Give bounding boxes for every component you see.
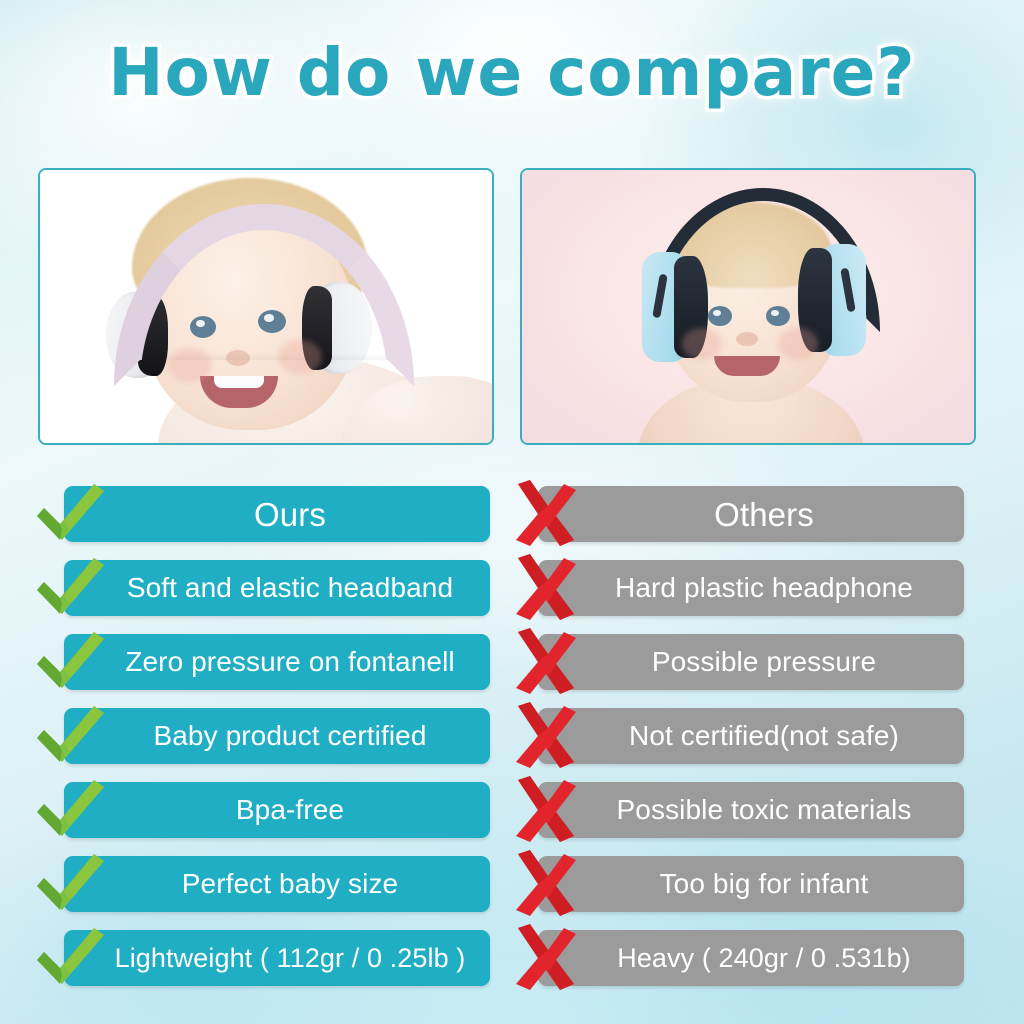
cell-label-ours: Zero pressure on fontanell <box>125 648 454 676</box>
cell-label-ours: Lightweight ( 112gr / 0 .25lb ) <box>115 945 466 972</box>
cell-ours: Lightweight ( 112gr / 0 .25lb ) <box>64 930 490 986</box>
cross-icon <box>508 552 582 624</box>
cell-ours: Bpa-free <box>64 782 490 838</box>
header-cell-others: Others <box>538 486 964 542</box>
header-label-ours: Ours <box>254 498 326 531</box>
cell-others: Heavy ( 240gr / 0 .531b) <box>538 930 964 986</box>
check-icon <box>34 478 108 550</box>
check-icon <box>34 626 108 698</box>
cell-label-others: Possible pressure <box>652 648 876 676</box>
cell-label-others: Hard plastic headphone <box>615 574 913 602</box>
header-cell-ours: Ours <box>64 486 490 542</box>
cell-label-ours: Baby product certified <box>153 722 426 750</box>
cell-others: Not certified(not safe) <box>538 708 964 764</box>
cell-label-ours: Soft and elastic headband <box>127 574 453 602</box>
baby-mouth <box>714 356 780 376</box>
table-row-header: Ours Others <box>0 486 1024 560</box>
cell-others: Possible toxic materials <box>538 782 964 838</box>
photo-ours-image <box>40 170 492 443</box>
table-row: Soft and elastic headband Hard plastic h… <box>0 560 1024 634</box>
cross-icon <box>508 626 582 698</box>
cross-icon <box>508 922 582 994</box>
check-icon <box>34 774 108 846</box>
baby-cheek-right <box>278 340 322 374</box>
baby-eye-right <box>766 306 790 326</box>
cell-label-ours: Bpa-free <box>236 796 344 824</box>
check-icon <box>34 848 108 920</box>
cell-label-others: Not certified(not safe) <box>629 722 899 750</box>
photo-ours <box>38 168 494 445</box>
cell-ours: Perfect baby size <box>64 856 490 912</box>
photo-others-image <box>522 170 974 443</box>
photo-others <box>520 168 976 445</box>
table-row: Bpa-free Possible toxic materials <box>0 782 1024 856</box>
cell-others: Possible pressure <box>538 634 964 690</box>
baby-eye-right <box>258 310 286 333</box>
check-icon <box>34 700 108 772</box>
table-row: Perfect baby size Too big for infant <box>0 856 1024 930</box>
header-label-others: Others <box>714 498 814 531</box>
cell-ours: Soft and elastic headband <box>64 560 490 616</box>
page-title: How do we compare? <box>0 34 1024 111</box>
cell-label-others: Possible toxic materials <box>617 796 912 824</box>
cell-others: Hard plastic headphone <box>538 560 964 616</box>
baby-teeth <box>214 376 264 388</box>
table-row: Baby product certified Not certified(not… <box>0 708 1024 782</box>
check-icon <box>34 922 108 994</box>
check-icon <box>34 552 108 624</box>
baby-cheek-right <box>778 328 818 360</box>
cell-others: Too big for infant <box>538 856 964 912</box>
comparison-infographic: How do we compare? <box>0 0 1024 1024</box>
table-row: Zero pressure on fontanell Possible pres… <box>0 634 1024 708</box>
cell-ours: Zero pressure on fontanell <box>64 634 490 690</box>
comparison-table: Ours Others <box>0 486 1024 1004</box>
baby-nose <box>736 332 758 346</box>
baby-nose <box>226 350 250 366</box>
cross-icon <box>508 700 582 772</box>
baby-eye-left <box>190 316 216 338</box>
cell-ours: Baby product certified <box>64 708 490 764</box>
baby-cheek-left <box>168 348 212 382</box>
cross-icon <box>508 478 582 550</box>
cross-icon <box>508 774 582 846</box>
cell-label-others: Too big for infant <box>660 870 869 898</box>
cross-icon <box>508 848 582 920</box>
table-row: Lightweight ( 112gr / 0 .25lb ) Heavy ( … <box>0 930 1024 1004</box>
baby-cheek-left <box>682 328 722 360</box>
baby-eye-left <box>708 306 732 326</box>
cell-label-others: Heavy ( 240gr / 0 .531b) <box>617 945 911 972</box>
cell-label-ours: Perfect baby size <box>182 870 398 898</box>
